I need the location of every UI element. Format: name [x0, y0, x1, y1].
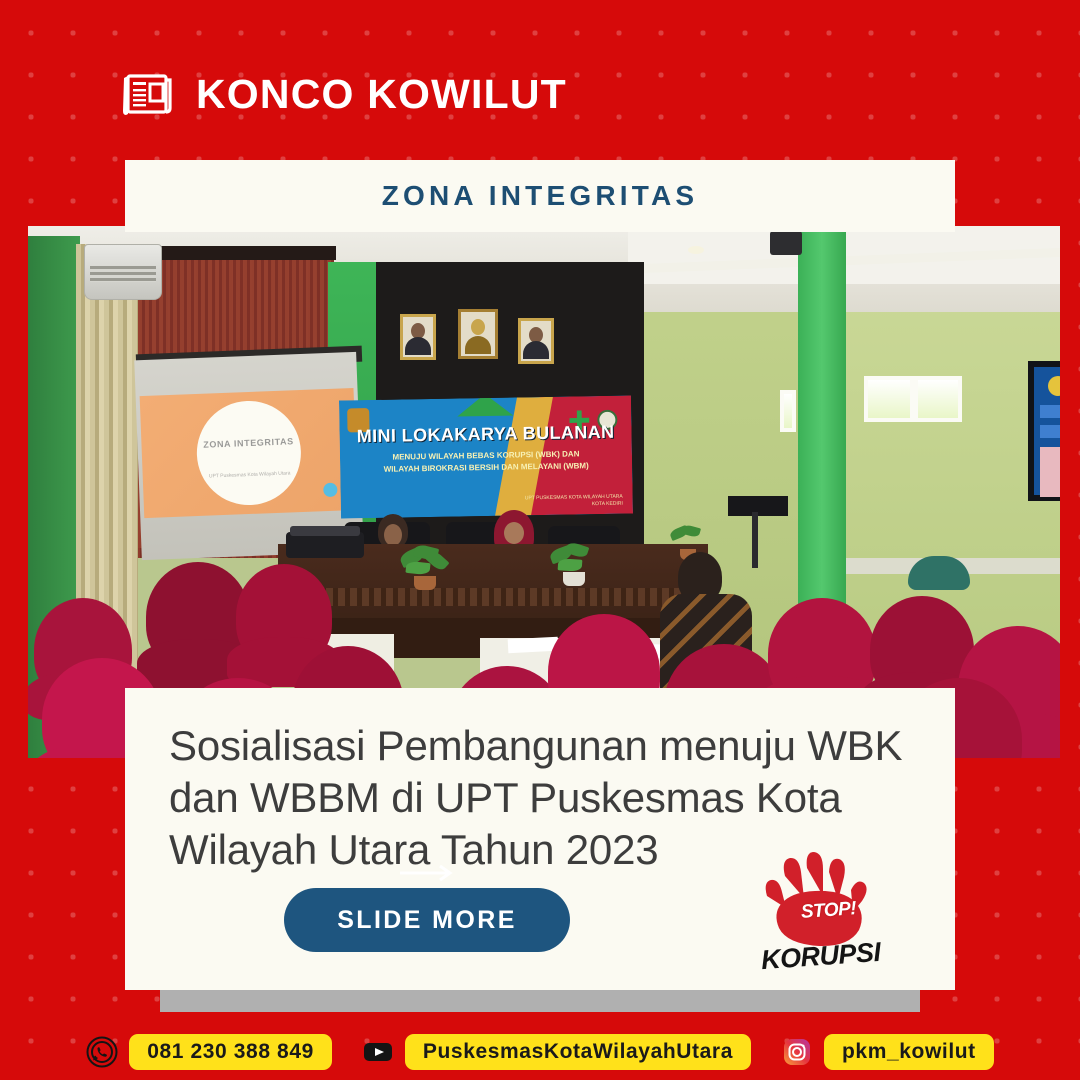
photo-portrait-president: [400, 314, 436, 360]
photo-head-table-front: [278, 588, 708, 606]
content-card: Sosialisasi Pembangunan menuju WBK dan W…: [125, 688, 955, 990]
photo-plant-1: [398, 546, 452, 590]
youtube-icon: [362, 1036, 394, 1068]
arrow-right-icon: [400, 863, 456, 883]
card-shadow: [160, 990, 920, 1012]
photo-projector-top: [290, 526, 360, 536]
photo-downlight: [688, 246, 704, 254]
photo-ac-vent: [90, 266, 156, 282]
zona-integritas-label: ZONA INTEGRITAS: [382, 180, 699, 212]
photo-window-2: [864, 376, 914, 422]
photo-speaker-2-face: [504, 522, 524, 544]
footer-contact-bar: 081 230 388 849 PuskesmasKotaWilayahUtar…: [0, 1024, 1080, 1080]
contact-instagram[interactable]: pkm_kowilut: [781, 1034, 994, 1070]
newspaper-icon: [118, 70, 174, 118]
stop-korupsi-logo: STOP! KORUPSI: [753, 852, 903, 976]
youtube-handle[interactable]: PuskesmasKotaWilayahUtara: [405, 1034, 751, 1070]
photo-slide: ZONA INTEGRITAS UPT Puskesmas Kota Wilay…: [140, 388, 359, 518]
page-header: KONCO KOWILUT: [118, 70, 567, 118]
photo-window-3: [914, 376, 962, 422]
photo-window-1: [780, 390, 796, 432]
photo-green-pillar: [798, 226, 846, 646]
photo-visi-misi-poster: [1028, 361, 1060, 501]
photo-speaker-1-face: [384, 524, 402, 546]
contact-whatsapp[interactable]: 081 230 388 849: [86, 1034, 332, 1070]
photo-banner-footer: UPT PUSKESMAS KOTA WILAYAH UTARA KOTA KE…: [525, 494, 623, 510]
photo-podium: [728, 496, 788, 516]
photo-side-chair: [908, 556, 970, 590]
photo-stage-banner: MINI LOKAKARYA BULANAN MENUJU WILAYAH BE…: [339, 395, 633, 518]
stop-label: STOP!: [800, 898, 857, 924]
event-photo: ZONA INTEGRITAS UPT Puskesmas Kota Wilay…: [28, 226, 1060, 758]
contact-youtube[interactable]: PuskesmasKotaWilayahUtara: [362, 1034, 751, 1070]
photo-plant-2: [548, 544, 600, 586]
whatsapp-number[interactable]: 081 230 388 849: [129, 1034, 332, 1070]
photo-attendee-head: [236, 564, 332, 668]
brand-title: KONCO KOWILUT: [196, 71, 567, 118]
zona-integritas-band: ZONA INTEGRITAS: [125, 160, 955, 232]
instagram-handle[interactable]: pkm_kowilut: [824, 1034, 994, 1070]
instagram-icon: [781, 1036, 813, 1068]
whatsapp-icon: [86, 1036, 118, 1068]
photo-podium-leg: [752, 512, 758, 568]
slide-more-button[interactable]: SLIDE MORE: [284, 888, 570, 952]
photo-garuda-emblem: [458, 309, 498, 359]
photo-speaker-box: [770, 231, 802, 255]
photo-banner-subtitle: MENUJU WILAYAH BEBAS KORUPSI (WBK) DAN W…: [340, 447, 632, 476]
photo-portrait-vice-president: [518, 318, 554, 364]
